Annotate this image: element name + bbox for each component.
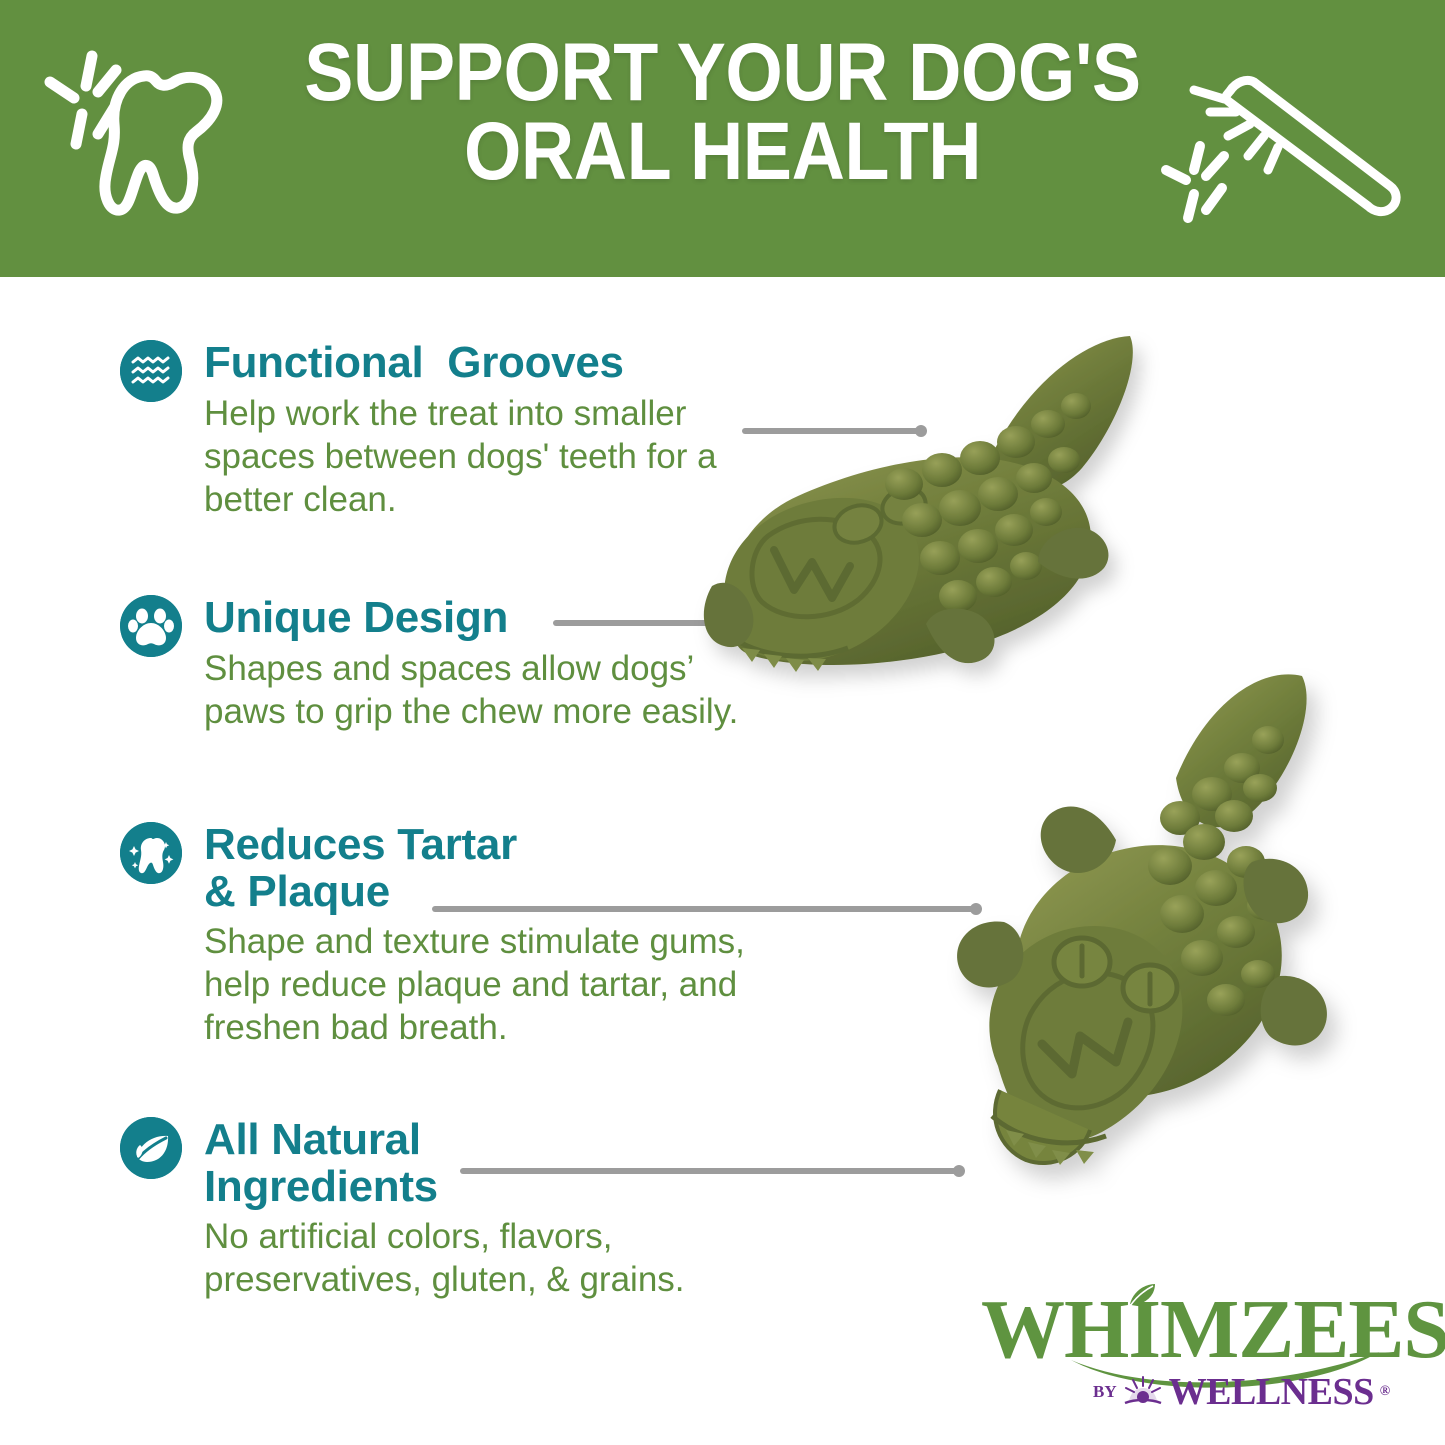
parent-brand-name: WELLNESS (1169, 1370, 1374, 1414)
by-wellness-line: BY WELLNESS® (1093, 1370, 1390, 1414)
feature-heading: Unique Design (204, 595, 760, 642)
paw-print-icon (120, 595, 182, 657)
leaf-icon (1127, 1282, 1157, 1308)
feature-item-reduces-tartar-plaque: Reduces Tartar & Plaque Shape and textur… (120, 822, 760, 1049)
feature-heading: All Natural Ingredients (204, 1117, 760, 1210)
feature-heading: Functional Grooves (204, 340, 760, 387)
feature-item-functional-grooves: Functional Grooves Help work the treat i… (120, 340, 760, 521)
feature-body: Shapes and spaces allow dogs’ paws to gr… (204, 647, 760, 733)
feature-heading: Reduces Tartar & Plaque (204, 822, 760, 915)
waves-icon (120, 340, 182, 402)
brand-logo: WHIMZEES® BY WELLNESS® (975, 1288, 1395, 1416)
parent-registered-mark: ® (1380, 1384, 1390, 1400)
by-label: BY (1093, 1382, 1117, 1402)
feature-body: Help work the treat into smaller spaces … (204, 392, 760, 521)
header-banner: SUPPORT YOUR DOG'S ORAL HEALTH (0, 0, 1445, 277)
product-image-alligator-chew-bottom (930, 670, 1410, 1240)
feature-body: Shape and texture stimulate gums, help r… (204, 920, 760, 1049)
feature-item-unique-design: Unique Design Shapes and spaces allow do… (120, 595, 760, 733)
feature-body: No artificial colors, flavors, preservat… (204, 1215, 760, 1301)
feature-item-all-natural-ingredients: All Natural Ingredients No artificial co… (120, 1117, 760, 1301)
toothbrush-sparkle-icon (1158, 46, 1408, 236)
sunburst-icon (1123, 1375, 1163, 1409)
leaf-icon (120, 1117, 182, 1179)
sparkling-tooth-icon (120, 822, 182, 884)
title-line-1: SUPPORT YOUR DOG'S (304, 27, 1140, 118)
